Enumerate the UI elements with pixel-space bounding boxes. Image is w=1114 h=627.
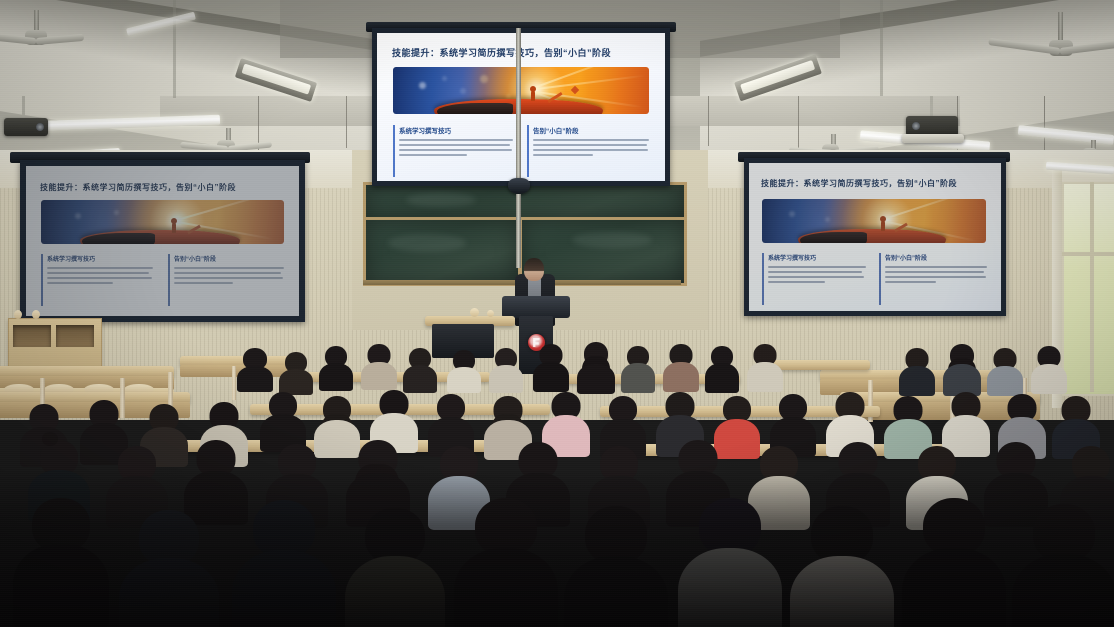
hanger-wire-3 bbox=[708, 96, 709, 146]
window bbox=[1062, 182, 1114, 396]
audience-person bbox=[944, 344, 980, 392]
cabinet-shelf-right bbox=[56, 325, 94, 347]
ceiling-beam-vertical-right bbox=[880, 0, 883, 96]
cabinet-cup-2 bbox=[32, 310, 40, 319]
audience-person bbox=[772, 394, 814, 452]
person-body bbox=[232, 550, 336, 627]
slide-column-1-heading: 系统学习撰写技巧 bbox=[47, 254, 153, 263]
audience-person bbox=[236, 500, 332, 627]
audience-person bbox=[944, 392, 988, 452]
cabinet-cup-1 bbox=[14, 310, 22, 319]
audience-person bbox=[706, 346, 738, 390]
person-body bbox=[790, 556, 894, 627]
slide-column-1: 系统学习撰写技巧 bbox=[762, 253, 866, 305]
slide-column-1: 系统学习撰写技巧 bbox=[41, 254, 153, 306]
audience-person bbox=[534, 344, 568, 390]
audience-person bbox=[362, 344, 396, 388]
audience-person bbox=[122, 510, 216, 627]
banner-bokeh bbox=[419, 82, 426, 89]
person-body bbox=[345, 556, 445, 627]
banner-ray bbox=[177, 200, 276, 221]
banner-arrow-head bbox=[571, 86, 579, 94]
banner-figure-silhouette bbox=[531, 91, 535, 101]
audience-person bbox=[664, 344, 698, 390]
slide-column-2-heading: 告别“小白”阶段 bbox=[533, 125, 649, 135]
banner-bokeh bbox=[825, 217, 830, 222]
banner-pages bbox=[800, 232, 867, 243]
audience-person bbox=[348, 508, 442, 627]
slide-title: 技能提升：系统学习简历撰写技巧，告别“小白”阶段 bbox=[761, 178, 957, 189]
slide-column-2: 告别“小白”阶段 bbox=[168, 254, 284, 306]
person-body bbox=[747, 362, 783, 392]
audience-person bbox=[794, 506, 890, 627]
audience-person bbox=[900, 348, 934, 392]
audience-person bbox=[1016, 504, 1112, 627]
audience-person bbox=[262, 392, 304, 448]
person-body bbox=[489, 365, 523, 393]
person-body bbox=[1012, 554, 1114, 627]
audience-person bbox=[748, 344, 782, 390]
projector-right bbox=[906, 116, 958, 136]
audience-person bbox=[430, 394, 472, 452]
banner-ray bbox=[536, 75, 646, 90]
microphone-pole-lower bbox=[516, 194, 521, 268]
audience-person bbox=[988, 348, 1022, 394]
banner-bokeh bbox=[460, 88, 466, 94]
chalkboard-left bbox=[363, 217, 521, 286]
person-body bbox=[361, 362, 397, 390]
slide-column-1-body bbox=[47, 267, 153, 284]
lecture-hall-screenshot: 技能提升：系统学习简历撰写技巧，告别“小白”阶段 系统学习撰写技巧 告别“小白”… bbox=[0, 0, 1114, 627]
audience-person bbox=[280, 352, 312, 392]
ceiling-camera bbox=[508, 178, 530, 194]
audience-person bbox=[622, 346, 654, 390]
slide-column-1-heading: 系统学习撰写技巧 bbox=[399, 125, 513, 135]
audience-person bbox=[490, 348, 522, 390]
person-body bbox=[237, 366, 273, 392]
projector-left bbox=[4, 118, 48, 136]
fan-rod bbox=[1058, 12, 1063, 42]
ceiling-fan-left bbox=[0, 10, 76, 60]
person-body bbox=[403, 365, 437, 393]
projector-lens bbox=[912, 122, 920, 130]
av-table-item bbox=[487, 310, 494, 317]
person-hair-bun bbox=[42, 432, 58, 446]
person-body bbox=[119, 558, 219, 627]
audience-person bbox=[568, 506, 664, 627]
banner-figure-silhouette bbox=[881, 221, 885, 231]
desk-leg bbox=[232, 366, 236, 400]
slide-column-2-heading: 告别“小白”阶段 bbox=[885, 253, 987, 262]
left-screen-slide: 技能提升：系统学习简历撰写技巧，告别“小白”阶段 系统学习撰写技巧 告别“小白”… bbox=[26, 166, 299, 316]
person-body bbox=[621, 363, 655, 393]
slide-banner bbox=[762, 199, 986, 243]
ceiling-beam-vertical-left bbox=[173, 0, 176, 98]
audience-person bbox=[682, 498, 778, 627]
person-body bbox=[454, 548, 558, 627]
hanger-wire-2 bbox=[346, 96, 347, 148]
slide-column-2: 告别“小白”阶段 bbox=[527, 125, 649, 177]
slide-column-2: 告别“小白”阶段 bbox=[879, 253, 987, 305]
audience-person bbox=[458, 498, 554, 627]
window-mullion-vertical bbox=[1090, 182, 1094, 392]
slide-column-2-body bbox=[174, 267, 284, 284]
slide-column-2-heading: 告别“小白”阶段 bbox=[174, 254, 284, 263]
banner-bokeh bbox=[480, 75, 488, 83]
center-screen-slide: 技能提升：系统学习简历撰写技巧，告别“小白”阶段 系统学习撰写技巧 bbox=[377, 33, 665, 181]
slide-column-2-body bbox=[533, 139, 649, 156]
person-body bbox=[577, 364, 615, 394]
audience-person bbox=[238, 348, 272, 388]
window-mullion-horizontal bbox=[1062, 252, 1114, 256]
banner-bokeh bbox=[789, 211, 795, 217]
slide-column-2-body bbox=[885, 266, 987, 283]
right-screen-slide: 技能提升：系统学习简历撰写技巧，告别“小白”阶段 系统学习撰写技巧 告别“小白”… bbox=[749, 163, 1001, 311]
projector-right-body bbox=[902, 134, 964, 143]
ceiling-fan-right bbox=[1000, 12, 1114, 72]
person-body bbox=[678, 548, 782, 627]
person-body bbox=[705, 363, 739, 393]
banner-bokeh bbox=[75, 213, 81, 219]
slide-column-1-body bbox=[399, 139, 513, 156]
chalk-smudge bbox=[406, 193, 476, 207]
person-body bbox=[899, 366, 935, 396]
chalk-smudge bbox=[388, 234, 466, 252]
banner-bokeh bbox=[114, 210, 119, 215]
cabinet-shelf-left bbox=[13, 325, 51, 347]
slide-banner bbox=[393, 67, 649, 114]
person-body bbox=[1031, 364, 1067, 394]
person-body bbox=[319, 363, 353, 391]
slide-title: 技能提升：系统学习简历撰写技巧，告别“小白”阶段 bbox=[40, 182, 236, 193]
audience-person bbox=[404, 348, 436, 390]
audience-person bbox=[906, 498, 1002, 627]
person-body bbox=[13, 544, 109, 627]
banner-figure-silhouette bbox=[172, 223, 176, 233]
av-table-cup bbox=[470, 308, 479, 317]
person-body bbox=[663, 362, 699, 392]
audience-person bbox=[448, 350, 480, 390]
slide-banner bbox=[41, 200, 284, 244]
person-body bbox=[987, 366, 1023, 396]
speaker-head bbox=[524, 258, 544, 281]
slide-column-1-heading: 系统学习撰写技巧 bbox=[768, 253, 866, 262]
projector-lens bbox=[36, 123, 44, 131]
banner-bokeh bbox=[442, 76, 447, 81]
person-body bbox=[447, 367, 481, 393]
slide-column-1: 系统学习撰写技巧 bbox=[393, 125, 513, 177]
slide-title: 技能提升：系统学习简历撰写技巧，告别“小白”阶段 bbox=[392, 46, 611, 59]
audience-person bbox=[578, 342, 614, 390]
person-body bbox=[902, 548, 1006, 627]
podium-desktop bbox=[502, 296, 570, 318]
banner-pages bbox=[82, 233, 155, 244]
microphone-pole bbox=[516, 28, 521, 180]
person-body bbox=[533, 362, 569, 392]
chalk-smudge bbox=[572, 232, 652, 248]
banner-ray bbox=[887, 199, 977, 219]
person-body bbox=[564, 556, 668, 627]
slide-column-1-body bbox=[768, 266, 866, 283]
audience-person bbox=[16, 498, 106, 618]
audience-person bbox=[320, 346, 352, 388]
audience-person bbox=[1032, 346, 1066, 392]
